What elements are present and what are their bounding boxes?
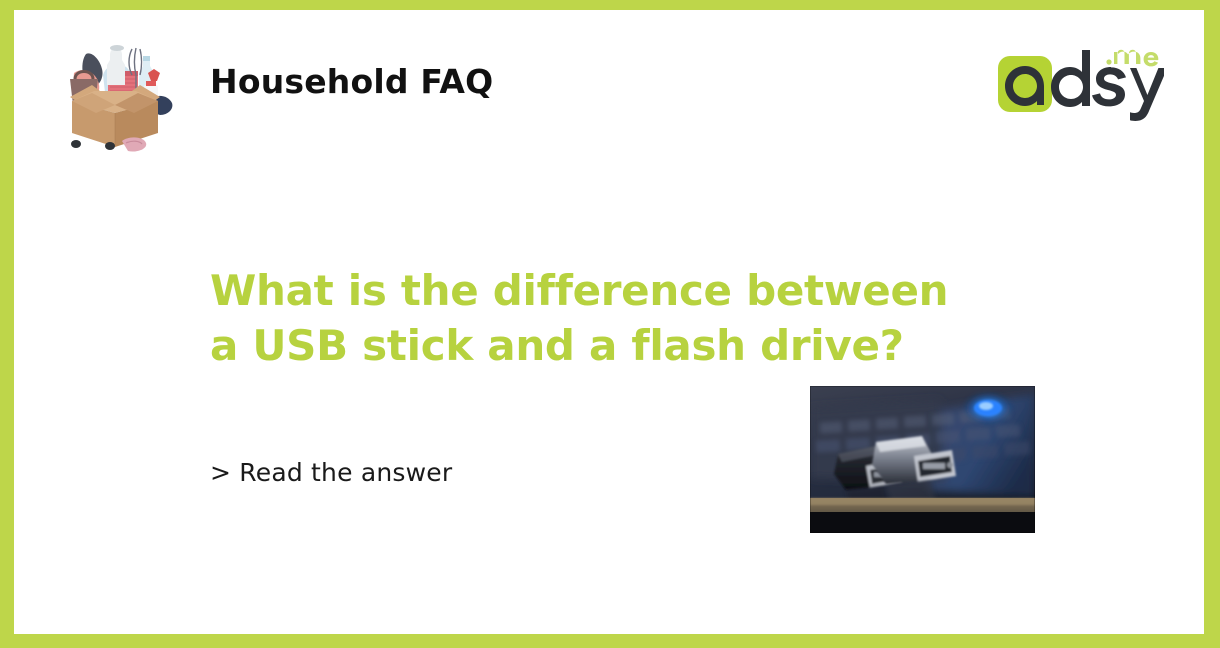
faq-promo-card: Household FAQ	[0, 0, 1220, 648]
read-the-answer-link[interactable]: > Read the answer	[210, 458, 452, 487]
headline-line-2: a USB stick and a flash drive?	[210, 321, 904, 370]
usb-flash-drives-photo	[810, 386, 1035, 533]
cardboard-box-icon	[48, 27, 182, 153]
faq-headline: What is the difference between a USB sti…	[210, 263, 1110, 373]
content-canvas: Household FAQ	[14, 10, 1204, 634]
adsy-logo[interactable]	[996, 38, 1164, 124]
headline-line-1: What is the difference between	[210, 266, 948, 315]
header: Household FAQ	[14, 10, 1204, 160]
page-title: Household FAQ	[210, 62, 493, 101]
